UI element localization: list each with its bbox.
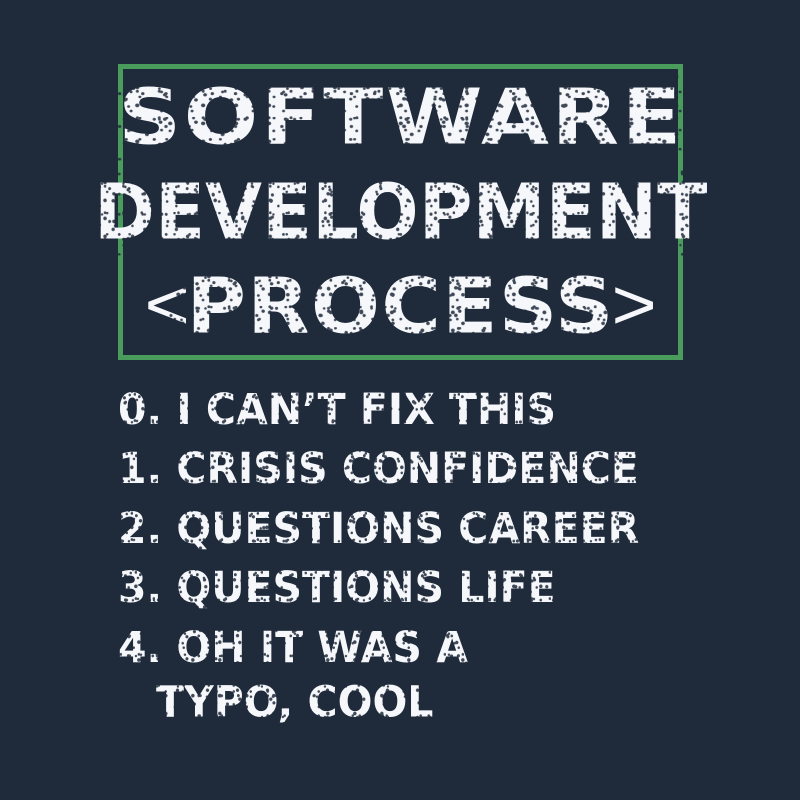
step-text-4: 4. OH IT WAS ATYPO, COOL: [118, 620, 468, 730]
step-text-2: 2. QUESTIONS CAREER: [118, 501, 639, 556]
step-text-1: 1. CRISIS CONFIDENCE: [118, 441, 639, 496]
list-item: 3. QUESTIONS LIFE: [118, 560, 758, 612]
title-line-process: PROCESS: [186, 269, 614, 342]
title-line-development: DEVELOPMENT: [94, 176, 707, 249]
title-line-software: SOFTWARE: [118, 81, 684, 154]
angle-bracket-left-icon: <: [144, 270, 189, 341]
title-line-process-row: < PROCESS >: [149, 272, 652, 341]
steps-list: 0. I CAN’T FIX THIS 1. CRISIS CONFIDENCE…: [118, 382, 758, 732]
angle-bracket-right-icon: >: [611, 270, 656, 341]
list-item: 1. CRISIS CONFIDENCE: [118, 441, 758, 493]
list-item: 4. OH IT WAS ATYPO, COOL: [118, 620, 758, 725]
step-text-0: 0. I CAN’T FIX THIS: [118, 382, 556, 437]
title-box: SOFTWARE DEVELOPMENT < PROCESS >: [118, 64, 683, 360]
list-item: 0. I CAN’T FIX THIS: [118, 382, 758, 434]
step-text-4-line1: 4. OH IT WAS A: [118, 622, 468, 672]
step-text-4-line2: TYPO, COOL: [118, 675, 468, 730]
list-item: 2. QUESTIONS CAREER: [118, 501, 758, 553]
step-text-3: 3. QUESTIONS LIFE: [118, 560, 556, 615]
poster-canvas: SOFTWARE DEVELOPMENT < PROCESS > 0. I CA…: [0, 0, 800, 800]
